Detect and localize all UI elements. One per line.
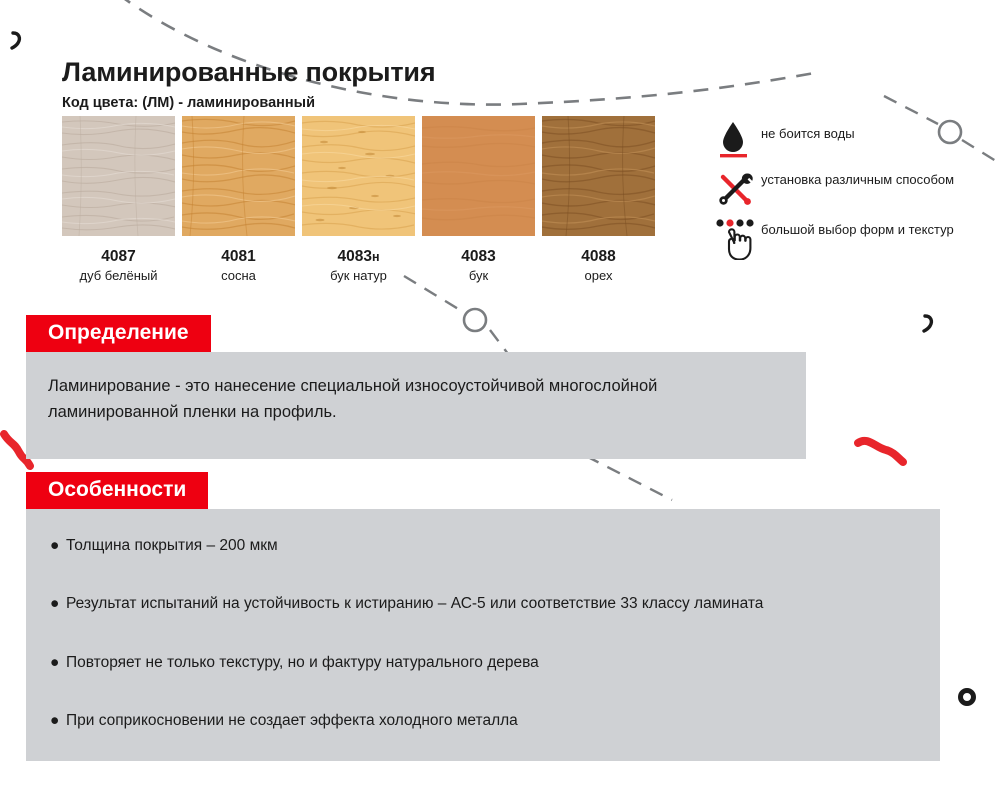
water-drop-glyph: [718, 119, 752, 159]
swatch-code-number: 4087: [101, 248, 135, 265]
swatch-name: бук: [422, 268, 535, 283]
swatch-name: дуб белёный: [62, 268, 175, 283]
feature-item-variety: большой выбор форм и текстур: [714, 218, 964, 260]
grain-texture: [62, 116, 175, 236]
bullet-dot-icon: ●: [50, 535, 59, 557]
crossed-tools-icon: [714, 168, 756, 210]
swatch-item[interactable]: 4087 дуб белёный: [62, 116, 175, 283]
swatch-item[interactable]: 4088 орех: [542, 116, 655, 283]
black-ring-bottom-right: [961, 691, 974, 704]
definition-tag: Определение: [26, 315, 211, 352]
swatch-code-suffix: н: [372, 250, 380, 264]
specs-body: ● Толщина покрытия – 200 мкм ● Результат…: [26, 509, 940, 761]
swatch-code-number: 4083: [337, 248, 371, 265]
grain-texture: [302, 116, 415, 236]
definition-section: Определение Ламинирование - это нанесени…: [26, 315, 806, 459]
swatch-name: бук натур: [302, 268, 415, 283]
swatch-code-number: 4088: [581, 248, 615, 265]
feature-item-install: установка различным способом: [714, 168, 964, 210]
comma-mark-right: [924, 316, 931, 331]
wood-swatch-beech-icon[interactable]: [422, 116, 535, 236]
swatch-item[interactable]: 4081 сосна: [182, 116, 295, 283]
swatch-code: 4087: [62, 248, 175, 266]
wood-swatch-pine-icon[interactable]: [182, 116, 295, 236]
specs-section: Особенности ● Толщина покрытия – 200 мкм…: [26, 472, 940, 761]
page-title: Ламинированные покрытия: [62, 58, 435, 88]
comma-mark-top-left: [12, 33, 19, 48]
list-item-text: При соприкосновении не создает эффекта х…: [66, 712, 518, 729]
swatch-code: 4088: [542, 248, 655, 266]
feature-label: большой выбор форм и текстур: [756, 218, 954, 238]
color-swatch-row: 4087 дуб белёный: [62, 116, 655, 283]
swatch-code: 4083: [422, 248, 535, 266]
swatch-item[interactable]: 4083 бук: [422, 116, 535, 283]
swatch-name: орех: [542, 268, 655, 283]
swatch-code-number: 4081: [221, 248, 255, 265]
swatch-code: 4083н: [302, 248, 415, 266]
grain-texture: [182, 116, 295, 236]
feature-item-water: не боится воды: [714, 118, 964, 160]
specs-tag: Особенности: [26, 472, 208, 509]
swatch-code: 4081: [182, 248, 295, 266]
definition-text: Ламинирование - это нанесение специально…: [48, 374, 784, 425]
list-item-text: Результат испытаний на устойчивость к ис…: [66, 595, 763, 612]
list-item-text: Повторяет не только текстуру, но и факту…: [66, 654, 539, 671]
page-subtitle: Код цвета: (ЛМ) - ламинированный: [62, 95, 435, 111]
header-block: Ламинированные покрытия Код цвета: (ЛМ) …: [62, 58, 435, 111]
grain-texture: [542, 116, 655, 236]
swatch-item[interactable]: 4083н бук натур: [302, 116, 415, 283]
wood-swatch-walnut-icon[interactable]: [542, 116, 655, 236]
definition-body: Ламинирование - это нанесение специально…: [26, 352, 806, 459]
grain-texture: [422, 116, 535, 236]
water-drop-icon: [714, 118, 756, 160]
list-item: ● Толщина покрытия – 200 мкм: [50, 535, 916, 557]
dashed-segment-right-b: [962, 140, 1000, 166]
bullet-dot-icon: ●: [50, 593, 59, 615]
pointing-hand-glyph: [715, 218, 755, 260]
pointing-hand-icon: [714, 218, 756, 260]
feature-label: установка различным способом: [756, 168, 954, 188]
bullet-dot-icon: ●: [50, 652, 59, 674]
wood-swatch-beech-natural-icon[interactable]: [302, 116, 415, 236]
list-item: ● Результат испытаний на устойчивость к …: [50, 593, 916, 615]
poster-canvas: Ламинированные покрытия Код цвета: (ЛМ) …: [0, 0, 1000, 800]
list-item: ● Повторяет не только текстуру, но и фак…: [50, 652, 916, 674]
crossed-tools-glyph: [716, 170, 754, 208]
swatch-name: сосна: [182, 268, 295, 283]
bullet-dot-icon: ●: [50, 710, 59, 732]
wood-swatch-oak-white-icon[interactable]: [62, 116, 175, 236]
list-item-text: Толщина покрытия – 200 мкм: [66, 537, 278, 554]
list-item: ● При соприкосновении не создает эффекта…: [50, 710, 916, 732]
swatch-code-number: 4083: [461, 248, 495, 265]
feature-list: не боится воды: [714, 118, 964, 268]
red-squiggle-right: [858, 441, 903, 462]
feature-label: не боится воды: [756, 118, 855, 142]
